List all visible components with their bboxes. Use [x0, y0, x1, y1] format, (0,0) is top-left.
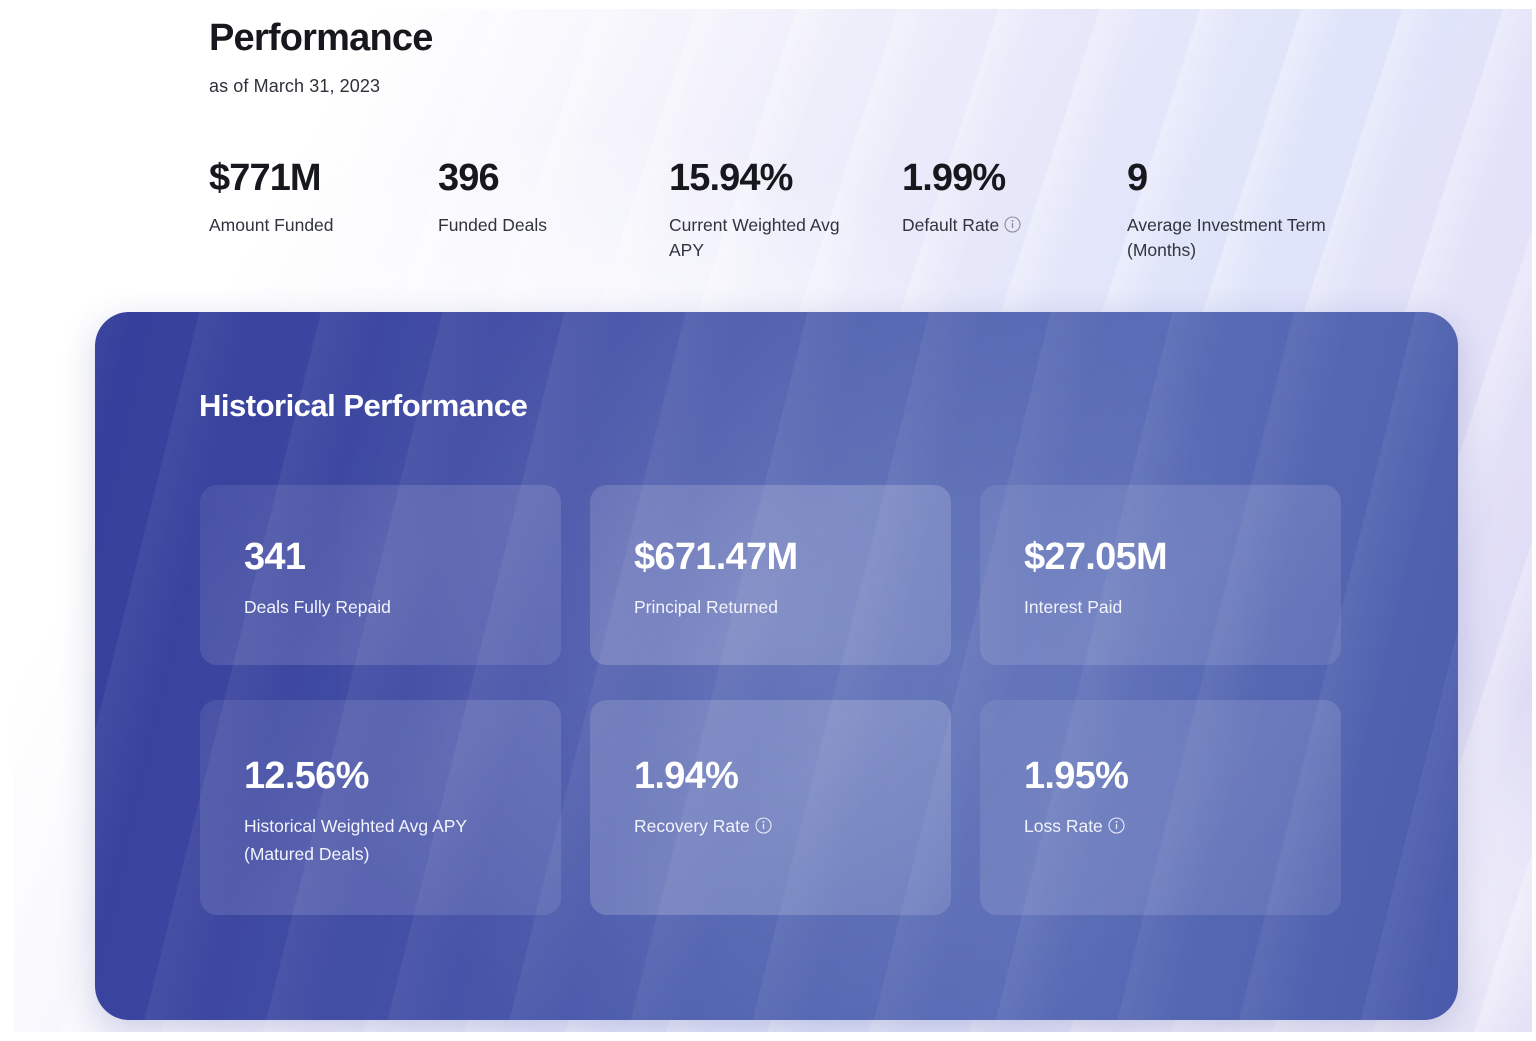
- stat-label-text: Deals Fully Repaid: [244, 597, 391, 617]
- page-title: Performance: [209, 18, 1409, 60]
- stat-label-text: Interest Paid: [1024, 597, 1122, 617]
- historical-stat-card-grid: 341 Deals Fully Repaid $671.47M Principa…: [200, 485, 1352, 915]
- frame-edge-left: [0, 0, 14, 1041]
- stat-label-text: Loss Rate: [1024, 816, 1103, 836]
- stat-label: Interest Paid: [1024, 593, 1284, 621]
- kpi-average-investment-term: 9 Average Investment Term (Months): [1127, 157, 1357, 264]
- info-icon[interactable]: [755, 817, 772, 834]
- stat-value: $27.05M: [1024, 537, 1341, 579]
- stat-value: 12.56%: [244, 756, 561, 798]
- historical-performance-panel: Historical Performance 341 Deals Fully R…: [95, 312, 1458, 1020]
- stat-label: Principal Returned: [634, 593, 894, 621]
- kpi-label: Funded Deals: [438, 213, 638, 239]
- stat-value: 1.94%: [634, 756, 951, 798]
- kpi-value: 9: [1127, 157, 1357, 200]
- frame-edge-top: [0, 0, 1536, 9]
- kpi-amount-funded: $771M Amount Funded: [209, 157, 438, 238]
- kpi-value: 396: [438, 157, 669, 200]
- kpi-label: Average Investment Term (Months): [1127, 213, 1332, 265]
- stat-label: Deals Fully Repaid: [244, 593, 504, 621]
- kpi-default-rate: 1.99% Default Rate: [902, 157, 1127, 238]
- kpi-label: Current Weighted Avg APY: [669, 213, 874, 265]
- kpi-summary-row: $771M Amount Funded 396 Funded Deals 15.…: [209, 157, 1357, 264]
- page-subtitle-as-of-date: as of March 31, 2023: [209, 76, 1409, 97]
- kpi-label-text: Current Weighted Avg APY: [669, 215, 840, 261]
- kpi-label: Amount Funded: [209, 213, 409, 239]
- stat-label-text: Historical Weighted Avg APY (Matured Dea…: [244, 816, 467, 864]
- stat-card-interest-paid: $27.05M Interest Paid: [980, 485, 1341, 665]
- panel-title: Historical Performance: [199, 388, 527, 424]
- info-icon[interactable]: [1108, 817, 1125, 834]
- kpi-value: $771M: [209, 157, 438, 200]
- stat-card-principal-returned: $671.47M Principal Returned: [590, 485, 951, 665]
- kpi-label-text: Amount Funded: [209, 215, 334, 235]
- kpi-funded-deals: 396 Funded Deals: [438, 157, 669, 238]
- stat-label: Recovery Rate: [634, 812, 894, 840]
- stat-label-text: Recovery Rate: [634, 816, 750, 836]
- stat-card-recovery-rate: 1.94% Recovery Rate: [590, 700, 951, 915]
- stat-label-text: Principal Returned: [634, 597, 778, 617]
- stat-card-loss-rate: 1.95% Loss Rate: [980, 700, 1341, 915]
- frame-edge-right: [1532, 0, 1536, 1041]
- stat-card-historical-weighted-avg-apy: 12.56% Historical Weighted Avg APY (Matu…: [200, 700, 561, 915]
- frame-edge-bottom: [0, 1032, 1536, 1041]
- page-header: Performance as of March 31, 2023: [209, 18, 1409, 97]
- kpi-label-text: Average Investment Term (Months): [1127, 215, 1326, 261]
- page-background: Performance as of March 31, 2023 $771M A…: [0, 0, 1536, 1041]
- stat-card-deals-fully-repaid: 341 Deals Fully Repaid: [200, 485, 561, 665]
- kpi-label-text: Default Rate: [902, 215, 999, 235]
- kpi-label-text: Funded Deals: [438, 215, 547, 235]
- stat-label: Loss Rate: [1024, 812, 1284, 840]
- kpi-label: Default Rate: [902, 213, 1102, 239]
- kpi-current-weighted-avg-apy: 15.94% Current Weighted Avg APY: [669, 157, 902, 264]
- info-icon[interactable]: [1004, 216, 1021, 233]
- kpi-value: 1.99%: [902, 157, 1127, 200]
- stat-value: 341: [244, 537, 561, 579]
- stat-value: $671.47M: [634, 537, 951, 579]
- kpi-value: 15.94%: [669, 157, 902, 200]
- stat-label: Historical Weighted Avg APY (Matured Dea…: [244, 812, 504, 869]
- stat-value: 1.95%: [1024, 756, 1341, 798]
